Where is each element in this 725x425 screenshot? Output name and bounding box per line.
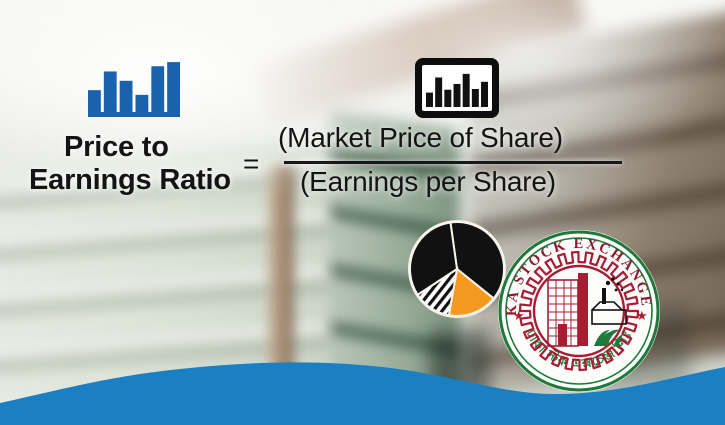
label-earnings-ratio: Earnings Ratio	[29, 166, 231, 195]
equals-sign: =	[243, 150, 259, 178]
formula-denominator: (Earnings per Share)	[300, 168, 556, 196]
boxed-bar-chart-icon	[414, 57, 500, 119]
bar-chart-icon	[88, 56, 180, 118]
label-price-to: Price to	[64, 133, 169, 162]
dhaka-stock-exchange-logo: DHAKA STOCK EXCHANGE LTD. ঢাকা স্টক এক্স…	[496, 228, 662, 394]
pie-chart-icon	[406, 218, 508, 320]
infographic-canvas: DHAKA STOCK EXCHANGE LTD. ঢাকা স্টক এক্স…	[0, 0, 725, 425]
formula-numerator: (Market Price of Share)	[278, 124, 563, 152]
fraction-bar	[284, 161, 622, 164]
